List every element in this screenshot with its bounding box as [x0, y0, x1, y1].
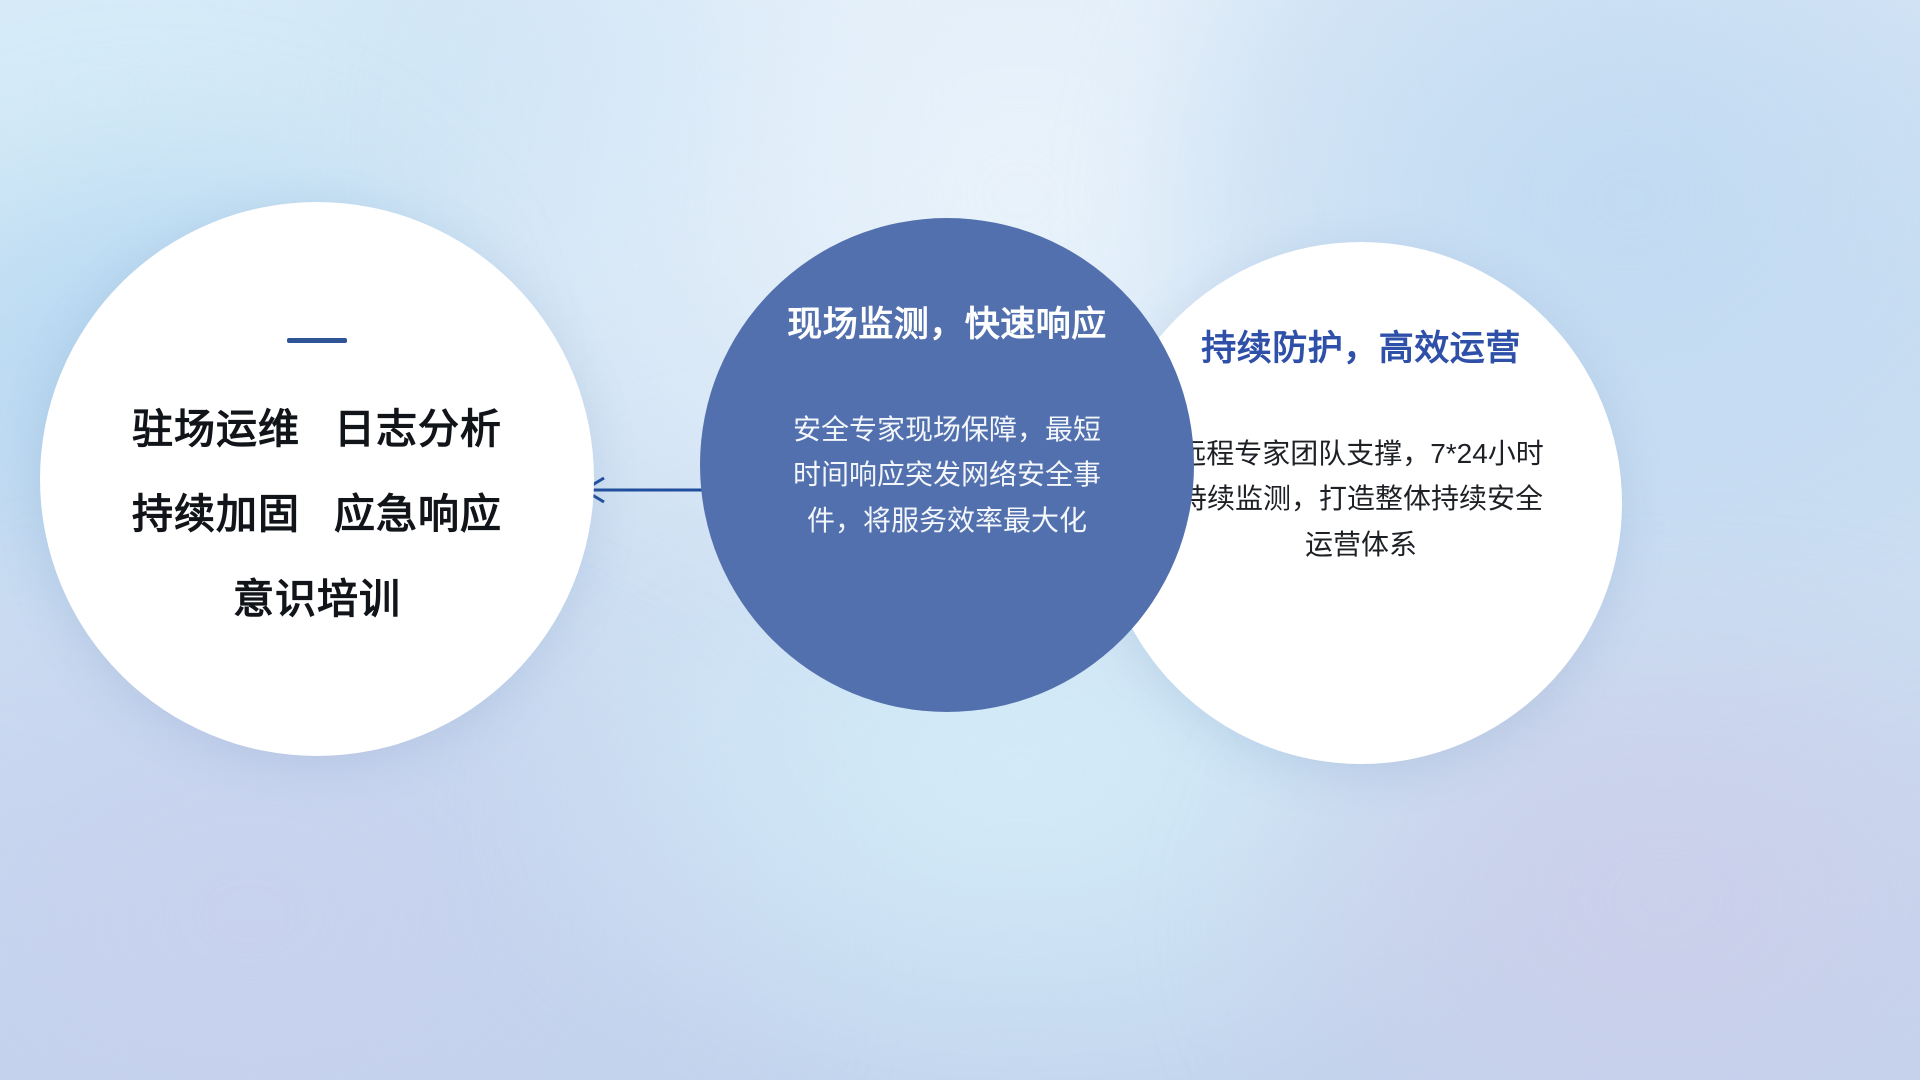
middle-circle-title: 现场监测，快速响应: [787, 296, 1107, 347]
capability-row: 驻场运维 日志分析: [132, 409, 502, 450]
slide-canvas: 驻场运维 日志分析 持续加固 应急响应 意识培训 持续防护，高效运营 远程专家团…: [0, 0, 1920, 1080]
capability-row: 意识培训: [233, 579, 401, 620]
left-capability-circle[interactable]: 驻场运维 日志分析 持续加固 应急响应 意识培训: [40, 202, 594, 756]
right-circle-body: 远程专家团队支撑，7*24小时持续监测，打造整体持续安全运营体系: [1166, 431, 1556, 567]
left-divider-rule: [287, 338, 347, 343]
middle-circle-content: 现场监测，快速响应 安全专家现场保障，最短时间响应突发网络安全事件，将服务效率最…: [700, 218, 1194, 712]
capability-tag: 日志分析: [334, 409, 502, 450]
right-circle-title: 持续防护，高效运营: [1201, 320, 1521, 371]
middle-circle-body: 安全专家现场保障，最短时间响应突发网络安全事件，将服务效率最大化: [782, 407, 1112, 543]
capability-tag: 持续加固: [132, 494, 300, 535]
capability-tag: 驻场运维: [132, 409, 300, 450]
middle-feature-circle[interactable]: 现场监测，快速响应 安全专家现场保障，最短时间响应突发网络安全事件，将服务效率最…: [700, 218, 1194, 712]
left-circle-content: 驻场运维 日志分析 持续加固 应急响应 意识培训: [40, 202, 594, 756]
capability-row: 持续加固 应急响应: [132, 494, 502, 535]
capability-tag: 意识培训: [233, 579, 401, 620]
capability-tag: 应急响应: [334, 494, 502, 535]
